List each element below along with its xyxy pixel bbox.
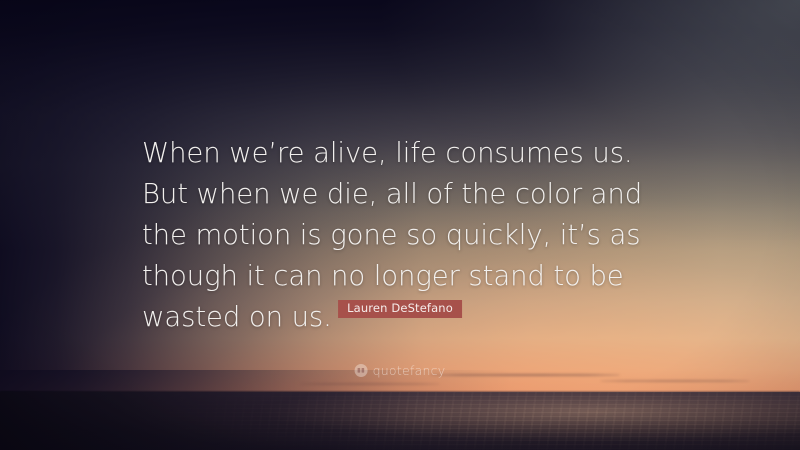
poster-content: When we’re alive, life consumes us. But … [0,0,800,450]
watermark: quotefancy [355,364,446,377]
quote-poster: When we’re alive, life consumes us. But … [0,0,800,450]
quote-mark-badge-icon [355,364,368,377]
author-badge: Lauren DeStefano [338,300,462,318]
watermark-label: quotefancy [373,364,446,377]
